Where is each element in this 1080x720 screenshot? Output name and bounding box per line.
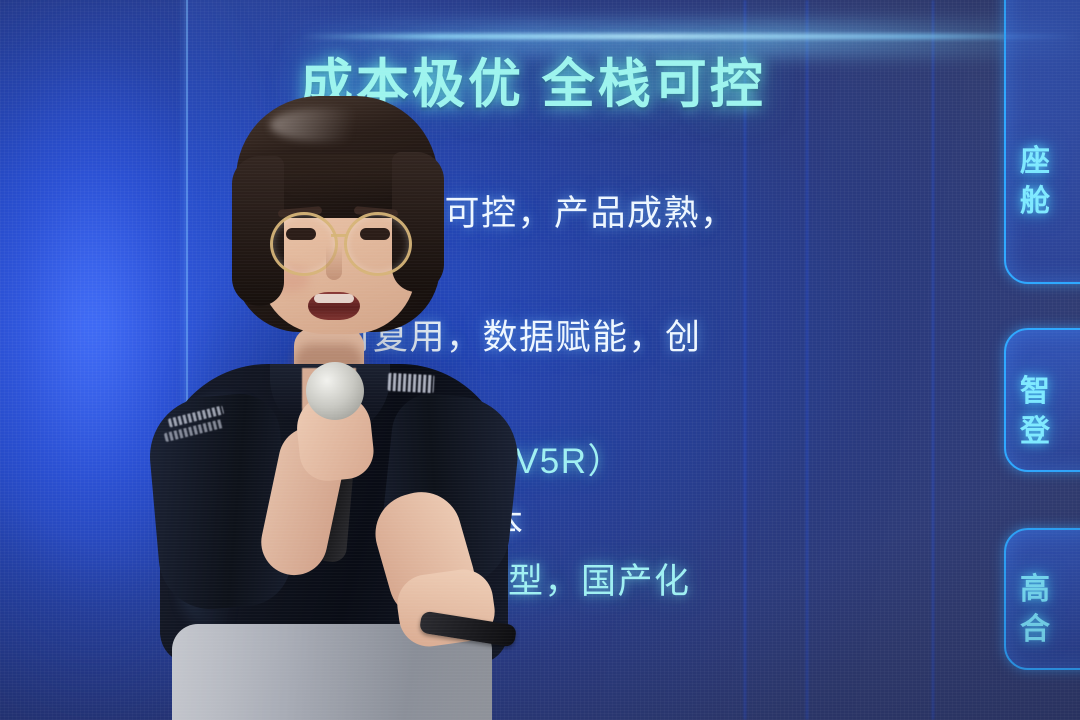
nose	[326, 246, 342, 280]
glasses-right-lens	[344, 212, 412, 276]
microphone-head	[306, 362, 364, 420]
teeth	[314, 294, 354, 303]
glasses-bridge	[331, 234, 346, 237]
speaker-figure	[120, 96, 540, 720]
chest-logo	[388, 373, 435, 393]
hair-highlight	[270, 108, 380, 142]
screenshot-stage: 成本极优 全栈可控 心技术自主可控，产品成熟， 发效率高 分时复用，数据赋能，创…	[0, 0, 1080, 720]
